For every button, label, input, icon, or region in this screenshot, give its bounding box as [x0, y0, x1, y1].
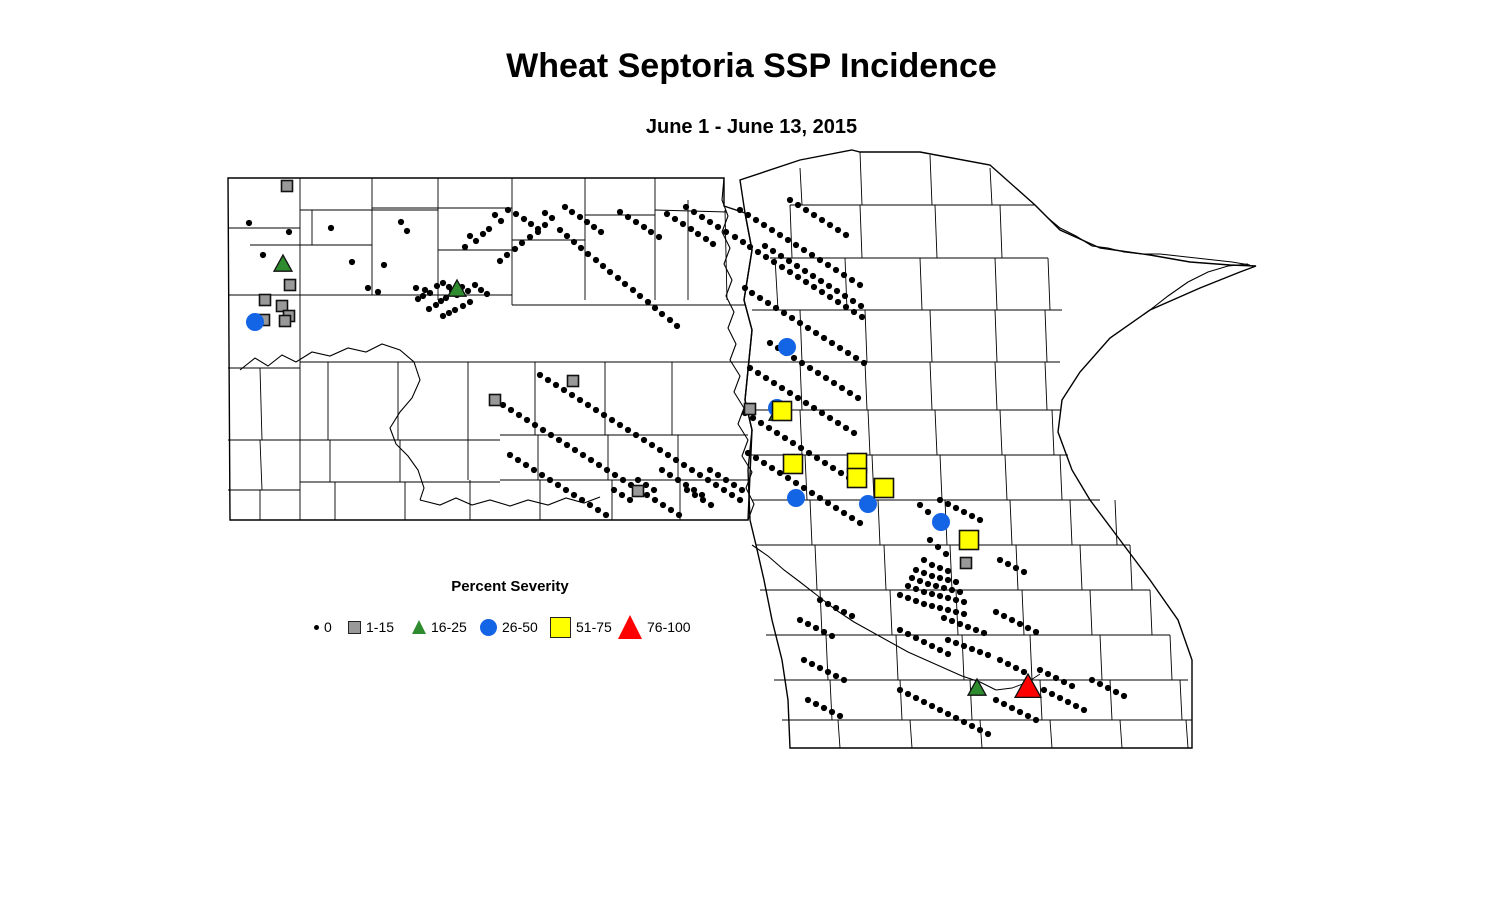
- map-marker-0: [787, 390, 793, 396]
- map-marker-0: [779, 264, 785, 270]
- map-marker-0: [1017, 621, 1023, 627]
- map-marker-0: [1073, 703, 1079, 709]
- map-marker-0: [851, 430, 857, 436]
- map-marker-1-15: [285, 280, 296, 291]
- map-marker-0: [761, 222, 767, 228]
- map-marker-0: [815, 370, 821, 376]
- map-marker-0: [585, 251, 591, 257]
- map-marker-0: [600, 263, 606, 269]
- map-marker-0: [625, 214, 631, 220]
- legend-item-1-15[interactable]: 1-15: [348, 614, 394, 640]
- map-marker-0: [667, 472, 673, 478]
- map-marker-0: [817, 665, 823, 671]
- map-marker-0: [731, 482, 737, 488]
- legend-items: 01-1516-2526-5051-7576-100: [300, 614, 720, 644]
- map-marker-0: [747, 244, 753, 250]
- map-marker-0: [708, 502, 714, 508]
- map-marker-0: [762, 243, 768, 249]
- map-marker-0: [757, 295, 763, 301]
- map-marker-0: [641, 224, 647, 230]
- map-marker-0: [1001, 701, 1007, 707]
- map-marker-0: [909, 575, 915, 581]
- map-marker-0: [579, 497, 585, 503]
- map-marker-0: [789, 315, 795, 321]
- map-marker-0: [833, 673, 839, 679]
- map-marker-0: [562, 204, 568, 210]
- map-marker-0: [945, 577, 951, 583]
- legend-item-76-100[interactable]: 76-100: [618, 614, 691, 640]
- map-marker-0: [561, 387, 567, 393]
- map-marker-0: [596, 462, 602, 468]
- map-marker-0: [849, 277, 855, 283]
- map-marker-0: [515, 457, 521, 463]
- map-marker-0: [415, 296, 421, 302]
- map-marker-0: [855, 395, 861, 401]
- map-marker-0: [542, 210, 548, 216]
- map-marker-0: [549, 215, 555, 221]
- map-marker-0: [841, 677, 847, 683]
- map-marker-0: [585, 402, 591, 408]
- map-marker-0: [649, 442, 655, 448]
- map-marker-0: [771, 380, 777, 386]
- map-marker-0: [753, 217, 759, 223]
- map-marker-0: [945, 568, 951, 574]
- map-marker-0: [941, 615, 947, 621]
- map-marker-0: [625, 427, 631, 433]
- map-marker-0: [953, 640, 959, 646]
- map-marker-0: [675, 477, 681, 483]
- map-marker-51-75: [773, 402, 792, 421]
- map-marker-0: [905, 631, 911, 637]
- map-marker-0: [524, 417, 530, 423]
- circle-marker-icon: [480, 619, 497, 636]
- map-marker-0: [809, 661, 815, 667]
- map-marker-0: [699, 492, 705, 498]
- map-marker-0: [798, 445, 804, 451]
- map-marker-0: [921, 699, 927, 705]
- map-marker-0: [779, 385, 785, 391]
- map-marker-0: [913, 586, 919, 592]
- map-marker-0: [937, 707, 943, 713]
- map-marker-1-15: [961, 558, 972, 569]
- map-marker-0: [749, 290, 755, 296]
- map-marker-0: [548, 432, 554, 438]
- map-marker-0: [803, 207, 809, 213]
- map-marker-51-75: [875, 479, 894, 498]
- map-marker-0: [777, 470, 783, 476]
- map-marker-0: [949, 618, 955, 624]
- map-marker-51-75: [848, 469, 867, 488]
- map-marker-0: [745, 212, 751, 218]
- map-marker-0: [492, 212, 498, 218]
- map-marker-0: [1081, 707, 1087, 713]
- map-marker-1-15: [633, 486, 644, 497]
- map-marker-0: [672, 216, 678, 222]
- map-marker-0: [652, 305, 658, 311]
- map-marker-0: [935, 544, 941, 550]
- map-marker-0: [793, 480, 799, 486]
- map-marker-0: [620, 477, 626, 483]
- map-marker-0: [545, 377, 551, 383]
- map-marker-0: [547, 477, 553, 483]
- legend-item-26-50[interactable]: 26-50: [480, 614, 538, 640]
- map-marker-0: [905, 691, 911, 697]
- map-marker-0: [825, 500, 831, 506]
- map-marker-0: [821, 705, 827, 711]
- map-marker-0: [921, 589, 927, 595]
- map-marker-0: [737, 497, 743, 503]
- map-marker-0: [857, 282, 863, 288]
- map-marker-0: [1037, 667, 1043, 673]
- map-marker-0: [957, 621, 963, 627]
- map-marker-0: [957, 589, 963, 595]
- map-marker-0: [829, 709, 835, 715]
- map-marker-1-15: [490, 395, 501, 406]
- map-marker-0: [683, 482, 689, 488]
- map-marker-0: [945, 711, 951, 717]
- map-marker-1-15: [745, 404, 756, 415]
- map-marker-0: [365, 285, 371, 291]
- map-marker-0: [745, 450, 751, 456]
- square-marker-icon: [550, 617, 571, 638]
- map-marker-0: [969, 723, 975, 729]
- map-marker-0: [434, 283, 440, 289]
- map-marker-0: [787, 269, 793, 275]
- map-marker-0: [612, 472, 618, 478]
- map-marker-0: [1001, 613, 1007, 619]
- map-marker-0: [699, 214, 705, 220]
- map-marker-0: [753, 455, 759, 461]
- map-marker-0: [572, 447, 578, 453]
- map-marker-0: [680, 221, 686, 227]
- map-marker-0: [835, 227, 841, 233]
- map-marker-0: [835, 299, 841, 305]
- map-marker-0: [921, 639, 927, 645]
- map-marker-0: [732, 234, 738, 240]
- map-marker-0: [819, 410, 825, 416]
- map-marker-0: [512, 246, 518, 252]
- map-marker-0: [770, 248, 776, 254]
- map-marker-0: [1017, 709, 1023, 715]
- map-marker-0: [905, 595, 911, 601]
- map-marker-0: [827, 294, 833, 300]
- map-marker-0: [413, 285, 419, 291]
- map-canvas: [0, 0, 1503, 900]
- map-marker-0: [497, 258, 503, 264]
- map-marker-0: [710, 241, 716, 247]
- map-marker-0: [833, 267, 839, 273]
- map-marker-0: [929, 573, 935, 579]
- map-marker-0: [845, 350, 851, 356]
- map-marker-0: [539, 472, 545, 478]
- map-marker-0: [810, 273, 816, 279]
- map-marker-0: [913, 567, 919, 573]
- map-marker-0: [913, 598, 919, 604]
- map-marker-0: [797, 320, 803, 326]
- map-marker-0: [532, 422, 538, 428]
- map-marker-0: [801, 485, 807, 491]
- map-marker-0: [564, 442, 570, 448]
- legend-item-51-75[interactable]: 51-75: [550, 614, 612, 640]
- map-marker-0: [763, 375, 769, 381]
- map-marker-0: [513, 211, 519, 217]
- map-marker-0: [664, 211, 670, 217]
- map-marker-0: [803, 279, 809, 285]
- map-marker-0: [1021, 569, 1027, 575]
- map-marker-0: [929, 703, 935, 709]
- map-figure: Wheat Septoria SSP Incidence June 1 - Ju…: [0, 0, 1503, 900]
- legend-item-label: 26-50: [502, 620, 538, 634]
- map-marker-0: [793, 242, 799, 248]
- map-marker-0: [969, 513, 975, 519]
- map-marker-0: [747, 365, 753, 371]
- map-marker-0: [851, 309, 857, 315]
- map-marker-0: [569, 392, 575, 398]
- map-marker-0: [542, 222, 548, 228]
- map-marker-0: [785, 237, 791, 243]
- map-marker-0: [805, 697, 811, 703]
- map-marker-0: [765, 300, 771, 306]
- map-marker-0: [627, 497, 633, 503]
- map-marker-26-50: [787, 489, 805, 507]
- map-marker-0: [859, 314, 865, 320]
- map-marker-0: [843, 304, 849, 310]
- map-marker-0: [689, 467, 695, 473]
- map-marker-0: [750, 415, 756, 421]
- map-marker-0: [1097, 681, 1103, 687]
- map-marker-0: [937, 497, 943, 503]
- map-marker-0: [1069, 683, 1075, 689]
- map-marker-0: [850, 298, 856, 304]
- map-marker-0: [484, 291, 490, 297]
- map-marker-0: [584, 219, 590, 225]
- map-marker-0: [440, 313, 446, 319]
- map-marker-51-75: [784, 455, 803, 474]
- map-marker-0: [839, 385, 845, 391]
- map-marker-0: [668, 507, 674, 513]
- map-marker-0: [809, 252, 815, 258]
- map-marker-0: [691, 209, 697, 215]
- map-marker-0: [595, 507, 601, 513]
- map-marker-0: [801, 657, 807, 663]
- map-marker-0: [556, 437, 562, 443]
- map-marker-0: [598, 229, 604, 235]
- map-marker-0: [1009, 617, 1015, 623]
- map-marker-0: [537, 372, 543, 378]
- map-marker-0: [659, 467, 665, 473]
- map-marker-0: [937, 575, 943, 581]
- map-marker-0: [635, 477, 641, 483]
- map-marker-0: [803, 400, 809, 406]
- map-marker-0: [921, 601, 927, 607]
- map-marker-0: [965, 624, 971, 630]
- map-marker-0: [1065, 699, 1071, 705]
- map-marker-0: [617, 209, 623, 215]
- map-marker-0: [460, 303, 466, 309]
- map-marker-0: [619, 492, 625, 498]
- map-marker-0: [929, 643, 935, 649]
- map-marker-0: [811, 212, 817, 218]
- map-marker-0: [375, 289, 381, 295]
- map-marker-0: [580, 452, 586, 458]
- map-marker-0: [467, 299, 473, 305]
- map-marker-0: [933, 583, 939, 589]
- map-marker-0: [773, 305, 779, 311]
- map-marker-0: [829, 340, 835, 346]
- map-marker-0: [660, 502, 666, 508]
- map-marker-0: [1089, 677, 1095, 683]
- map-marker-0: [961, 611, 967, 617]
- map-marker-0: [853, 355, 859, 361]
- map-marker-0: [961, 643, 967, 649]
- map-marker-0: [811, 284, 817, 290]
- map-marker-0: [961, 599, 967, 605]
- map-marker-26-50: [246, 313, 264, 331]
- map-marker-0: [571, 239, 577, 245]
- map-marker-0: [791, 355, 797, 361]
- map-marker-1-15: [260, 295, 271, 306]
- map-marker-0: [813, 330, 819, 336]
- map-marker-0: [577, 397, 583, 403]
- map-marker-0: [1013, 665, 1019, 671]
- map-marker-0: [771, 259, 777, 265]
- map-marker-0: [997, 657, 1003, 663]
- map-marker-0: [633, 432, 639, 438]
- dot-marker-icon: [314, 625, 319, 630]
- map-marker-0: [767, 340, 773, 346]
- map-marker-0: [633, 219, 639, 225]
- map-marker-0: [673, 457, 679, 463]
- map-marker-0: [1045, 671, 1051, 677]
- map-marker-0: [1033, 629, 1039, 635]
- map-marker-0: [617, 422, 623, 428]
- triangle-marker-icon: [618, 615, 642, 639]
- map-marker-0: [707, 219, 713, 225]
- map-marker-0: [806, 450, 812, 456]
- map-marker-0: [769, 465, 775, 471]
- map-marker-0: [462, 244, 468, 250]
- map-marker-51-75: [960, 531, 979, 550]
- map-marker-0: [644, 492, 650, 498]
- map-marker-0: [688, 226, 694, 232]
- map-marker-0: [897, 627, 903, 633]
- map-marker-0: [953, 579, 959, 585]
- map-marker-0: [821, 629, 827, 635]
- map-marker-0: [802, 268, 808, 274]
- map-marker-0: [841, 609, 847, 615]
- map-marker-0: [683, 204, 689, 210]
- map-marker-0: [729, 492, 735, 498]
- map-marker-0: [826, 283, 832, 289]
- map-marker-0: [795, 395, 801, 401]
- map-marker-0: [818, 278, 824, 284]
- map-marker-0: [837, 713, 843, 719]
- map-marker-0: [713, 482, 719, 488]
- map-marker-0: [774, 430, 780, 436]
- map-marker-0: [838, 470, 844, 476]
- map-marker-0: [997, 557, 1003, 563]
- map-marker-0: [1049, 691, 1055, 697]
- map-marker-0: [587, 502, 593, 508]
- map-marker-0: [404, 228, 410, 234]
- map-marker-0: [819, 217, 825, 223]
- map-marker-0: [504, 252, 510, 258]
- map-marker-0: [861, 360, 867, 366]
- map-marker-0: [723, 477, 729, 483]
- map-marker-0: [681, 462, 687, 468]
- map-marker-0: [841, 272, 847, 278]
- map-marker-0: [603, 512, 609, 518]
- map-marker-0: [659, 311, 665, 317]
- map-marker-0: [961, 509, 967, 515]
- map-marker-0: [766, 425, 772, 431]
- map-marker-0: [723, 229, 729, 235]
- county-boundaries: [228, 152, 1250, 748]
- map-marker-0: [843, 425, 849, 431]
- map-marker-0: [763, 254, 769, 260]
- legend-item-16-25[interactable]: 16-25: [412, 614, 467, 640]
- map-marker-0: [440, 280, 446, 286]
- map-marker-0: [557, 227, 563, 233]
- map-marker-0: [823, 375, 829, 381]
- square-marker-icon: [348, 621, 361, 634]
- map-marker-0: [569, 209, 575, 215]
- map-marker-0: [721, 487, 727, 493]
- map-marker-0: [630, 287, 636, 293]
- map-marker-0: [821, 335, 827, 341]
- map-marker-0: [697, 472, 703, 478]
- map-marker-0: [805, 621, 811, 627]
- map-marker-0: [929, 591, 935, 597]
- map-marker-0: [897, 592, 903, 598]
- map-marker-0: [833, 505, 839, 511]
- legend-item-0[interactable]: 0: [314, 614, 332, 640]
- map-marker-0: [961, 719, 967, 725]
- map-marker-0: [905, 583, 911, 589]
- map-marker-0: [927, 537, 933, 543]
- map-marker-0: [648, 229, 654, 235]
- map-marker-0: [508, 407, 514, 413]
- map-marker-0: [917, 502, 923, 508]
- map-marker-0: [676, 512, 682, 518]
- map-marker-1-15: [280, 316, 291, 327]
- map-marker-0: [937, 605, 943, 611]
- map-marker-0: [817, 257, 823, 263]
- map-marker-0: [427, 290, 433, 296]
- map-marker-0: [825, 669, 831, 675]
- map-marker-0: [667, 317, 673, 323]
- map-marker-0: [1013, 565, 1019, 571]
- map-marker-0: [782, 435, 788, 441]
- map-marker-0: [591, 224, 597, 230]
- map-marker-0: [657, 447, 663, 453]
- map-marker-0: [837, 345, 843, 351]
- map-marker-0: [535, 229, 541, 235]
- map-marker-0: [652, 497, 658, 503]
- legend-item-label: 76-100: [647, 620, 691, 634]
- map-marker-0: [834, 288, 840, 294]
- map-marker-0: [795, 202, 801, 208]
- map-marker-0: [813, 701, 819, 707]
- map-marker-26-50: [778, 338, 796, 356]
- map-marker-0: [665, 452, 671, 458]
- map-marker-0: [805, 325, 811, 331]
- map-marker-0: [555, 482, 561, 488]
- map-marker-0: [540, 427, 546, 433]
- map-marker-0: [601, 412, 607, 418]
- map-marker-0: [674, 323, 680, 329]
- map-marker-0: [651, 487, 657, 493]
